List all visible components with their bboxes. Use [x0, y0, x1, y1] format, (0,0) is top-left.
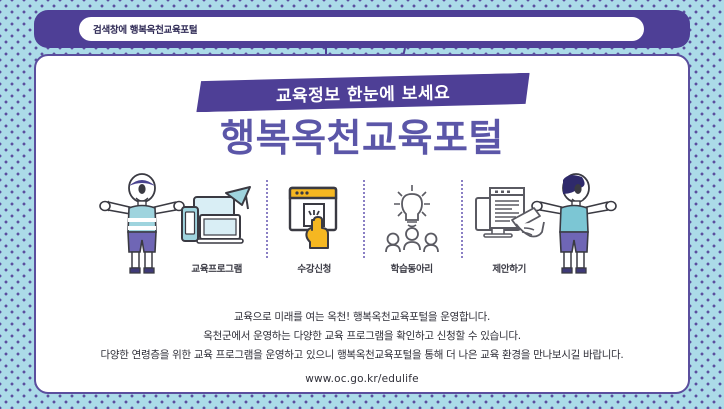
portal-url[interactable]: www.oc.go.kr/edulife [0, 373, 724, 385]
promo-banner: 검색창에 행복옥천교육포털 교육정보 한눈에 보세요 행복옥천교육포털 [0, 0, 724, 409]
service-item-course-application[interactable]: 수강신청 [266, 178, 364, 283]
service-item-suggestion[interactable]: 제안하기 [461, 178, 559, 283]
lightbulb-people-icon [380, 178, 444, 258]
description-line-3: 다양한 연령층을 위한 교육 프로그램을 운영하고 있으니 행복옥천교육포털을 … [0, 346, 724, 365]
ribbon-text: 교육정보 한눈에 보세요 [276, 78, 451, 106]
description-block: 교육으로 미래를 여는 옥천! 행복옥천교육포털을 운영합니다. 옥천군에서 운… [0, 308, 724, 385]
service-item-study-club[interactable]: 학습동아리 [363, 178, 461, 283]
description-line-2: 옥천군에서 운영하는 다양한 교육 프로그램을 확인하고 신청할 수 있습니다. [0, 327, 724, 346]
monitor-pen-hand-icon [472, 178, 546, 258]
devices-graduation-cap-icon [180, 178, 254, 258]
search-input-text: 검색창에 행복옥천교육포털 [93, 22, 197, 36]
search-bar: 검색창에 행복옥천교육포털 [34, 10, 690, 48]
service-label: 수강신청 [297, 261, 331, 275]
browser-click-hand-icon [284, 178, 344, 258]
service-label: 학습동아리 [391, 261, 433, 275]
service-item-education-program[interactable]: 교육프로그램 [168, 178, 266, 283]
page-title: 행복옥천교육포털 [0, 118, 724, 160]
search-input[interactable]: 검색창에 행복옥천교육포털 [79, 17, 644, 41]
description-line-1: 교육으로 미래를 여는 옥천! 행복옥천교육포털을 운영합니다. [0, 308, 724, 327]
service-label: 교육프로그램 [191, 261, 242, 275]
service-icon-row: 교육프로그램 수강신청 [168, 178, 558, 283]
service-label: 제안하기 [492, 261, 526, 275]
